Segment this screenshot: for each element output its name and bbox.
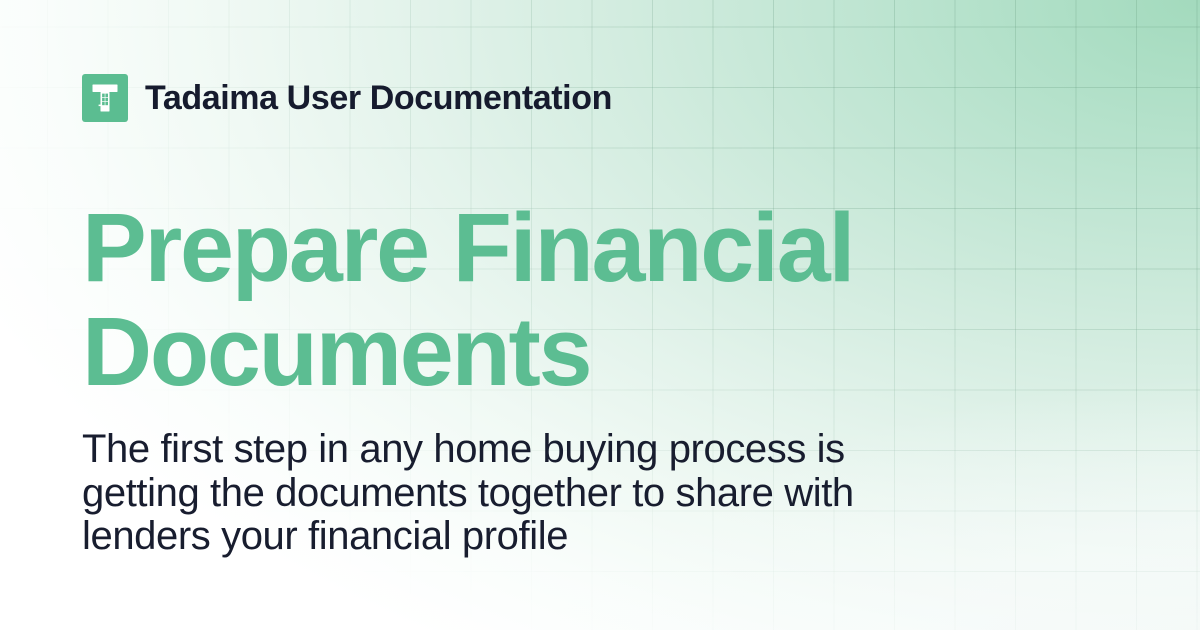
tadaima-torii-logo-icon <box>82 74 128 122</box>
card-content: Tadaima User Documentation Prepare Finan… <box>0 0 1200 630</box>
description-line: The first step in any home buying proces… <box>82 428 872 472</box>
page-description: The first step in any home buying proces… <box>82 428 872 559</box>
description-line: getting the documents together to share … <box>82 472 872 516</box>
description-line: lenders your financial profile <box>82 515 872 559</box>
og-card: Tadaima User Documentation Prepare Finan… <box>0 0 1200 630</box>
brand-header: Tadaima User Documentation <box>82 74 612 122</box>
brand-title: Tadaima User Documentation <box>145 81 612 115</box>
page-title: Prepare Financial Documents <box>82 196 912 404</box>
